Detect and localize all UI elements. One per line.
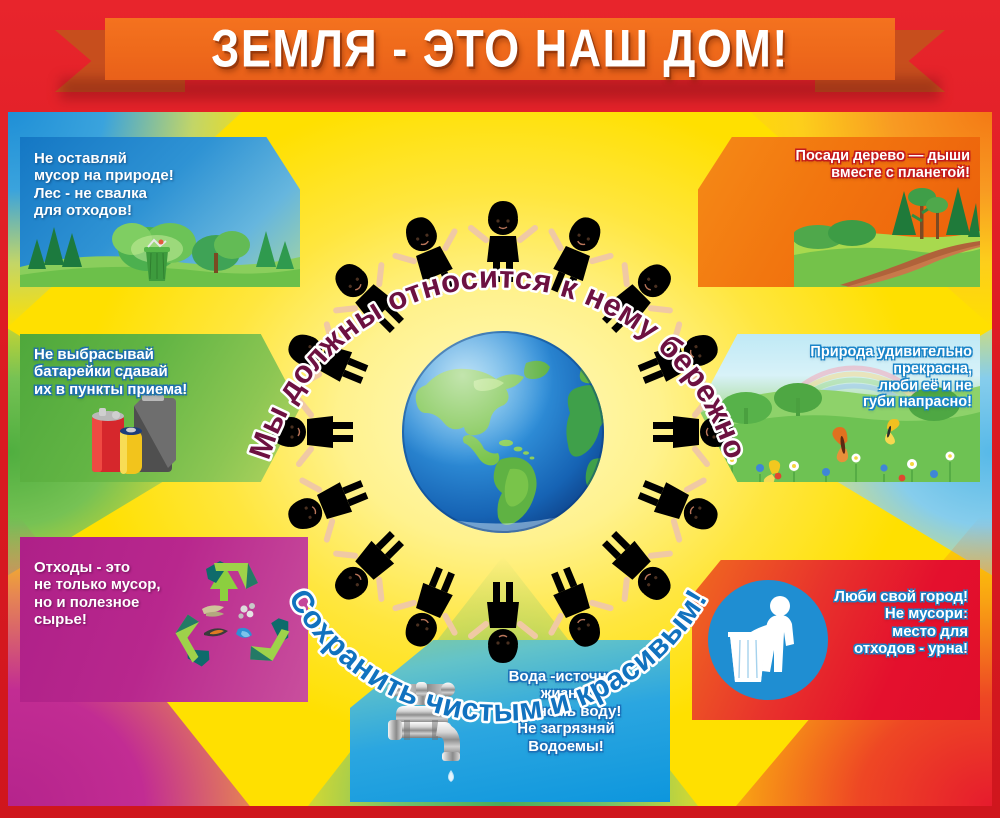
panel-nature-beautiful-text: Природа удивительно прекрасна, люби её и…: [810, 344, 972, 411]
batteries-icon: [78, 392, 198, 476]
panel-batteries-text: Не выбрасывай батарейки сдавай их в пунк…: [34, 346, 187, 398]
panel-do-not-litter-text: Не оставляй мусор на природе! Лес - не с…: [34, 150, 174, 220]
forest-path-icon: [794, 177, 980, 287]
arc-caption-bottom: Сохранить чистым и красивым!: [258, 152, 738, 752]
ribbon-band: ЗЕМЛЯ - ЭТО НАШ ДОМ!: [105, 18, 895, 80]
poster-canvas: Не оставляй мусор на природе! Лес - не с…: [8, 112, 992, 806]
panel-plant-a-tree[interactable]: Посади дерево — дыши вместе с планетой!: [698, 137, 980, 287]
ribbon-shadow: [60, 78, 940, 100]
panel-recycling-text: Отходы - это не только мусор, но и полез…: [34, 559, 161, 629]
centre-illustration: .k0 .shirt{fill:#f4a0c0}.k0 .pants{fill:…: [258, 152, 738, 752]
banner: ЗЕМЛЯ - ЭТО НАШ ДОМ!: [0, 0, 1000, 112]
panel-plant-a-tree-text: Посади дерево — дыши вместе с планетой!: [796, 148, 970, 182]
panel-love-your-city-text: Люби свой город! Не мусори: место для от…: [834, 588, 968, 658]
panel-nature-beautiful[interactable]: Природа удивительно прекрасна, люби её и…: [698, 334, 980, 482]
poster-root: ЗЕМЛЯ - ЭТО НАШ ДОМ!: [0, 0, 1000, 818]
svg-text:Сохранить чистым и красивым!: Сохранить чистым и красивым!: [282, 583, 714, 729]
arc-caption-bottom-text: Сохранить чистым и красивым!: [282, 583, 714, 729]
page-title: ЗЕМЛЯ - ЭТО НАШ ДОМ!: [211, 18, 789, 79]
